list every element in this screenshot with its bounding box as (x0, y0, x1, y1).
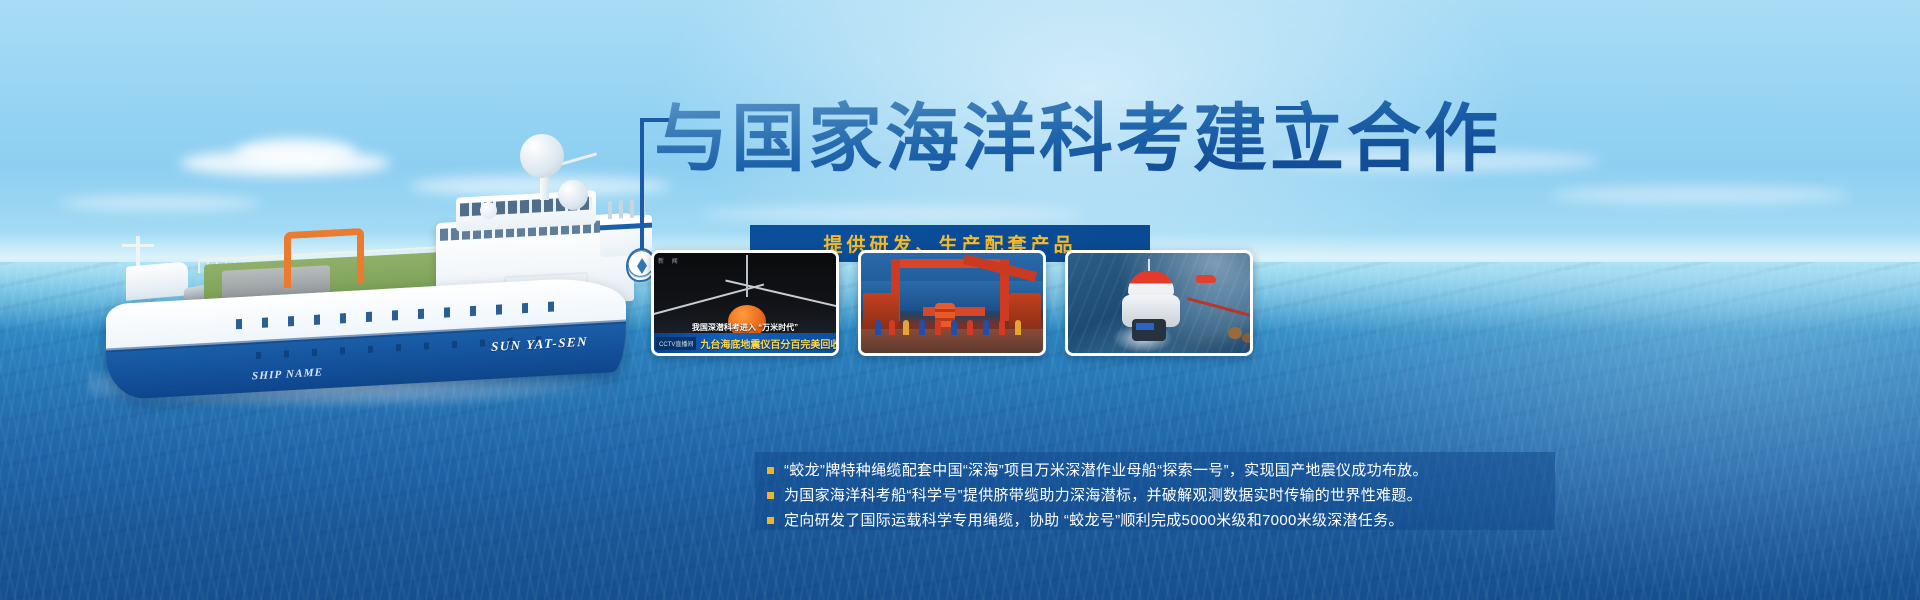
cloud (700, 206, 1080, 222)
thumbnail-1-caption-bottom: 九台海底地震仪百分百完美回收 (700, 336, 839, 351)
page-title: 与国家海洋科考建立合作 (654, 100, 1501, 180)
cloud (1550, 186, 1850, 204)
thumbnail-submersible[interactable] (1065, 250, 1253, 356)
thumbnail-1-corner-tag: 新 闻 (658, 256, 681, 265)
bullet-marker-icon (767, 467, 774, 474)
bullet-text: “蛟龙”牌特种绳缆配套中国“深海”项目万米深潜作业母船“探索一号”，实现国产地震… (784, 458, 1428, 483)
tow-float (1242, 333, 1253, 343)
ship-name-stern: SUN YAT-SEN (491, 334, 588, 355)
thumbnail-1-caption-bar: CCTV直播间 九台海底地震仪百分百完美回收 (654, 333, 836, 353)
bullet-item: 为国家海洋科考船“科学号”提供脐带缆助力深海潜标，并破解观测数据实时传输的世界性… (755, 483, 1555, 508)
thumbnail-news-seismograph[interactable]: 新 闻 我国深潜科考进入 “万米时代” CCTV直播间 九台海底地震仪百分百完美… (651, 250, 839, 356)
crew-member (967, 320, 973, 335)
orange-a-frame (284, 228, 364, 288)
bullet-marker-icon (767, 517, 774, 524)
foremast-crossbar (122, 244, 154, 247)
tv-channel-tag: CCTV直播间 (656, 337, 696, 350)
bullet-item: “蛟龙”牌特种绳缆配套中国“深海”项目万米深潜作业母船“探索一号”，实现国产地震… (755, 458, 1555, 483)
bullet-item: 定向研发了国际运载科学专用绳缆，协助 “蛟龙号”顺利完成5000米级和7000米… (755, 508, 1555, 533)
bullet-text: 定向研发了国际运载科学专用绳缆，协助 “蛟龙号”顺利完成5000米级和7000米… (784, 508, 1404, 533)
crew-member (999, 320, 1005, 335)
thumbnail-1-caption-top: 我国深潜科考进入 “万米时代” (654, 322, 836, 333)
bullet-text: 为国家海洋科考船“科学号”提供脐带缆助力深海潜标，并破解观测数据实时传输的世界性… (784, 483, 1422, 508)
title-block: 与国家海洋科考建立合作 (640, 96, 1300, 206)
crew-member (919, 320, 925, 335)
radome-small (480, 202, 497, 219)
submersible-panel (1136, 323, 1154, 330)
crew-member (935, 320, 941, 335)
crew-member (983, 320, 989, 335)
research-vessel-illustration: SUN YAT-SEN SHIP NAME (88, 140, 648, 420)
ship-name-bow: SHIP NAME (252, 366, 323, 382)
crew-member (1015, 320, 1021, 335)
hero-banner: SUN YAT-SEN SHIP NAME 与国家海洋科考建立合作 提供研发、生… (0, 0, 1920, 600)
crew-member (875, 320, 881, 335)
tow-float (1228, 327, 1242, 339)
crew-row (867, 319, 1043, 335)
radome-medium (558, 180, 588, 210)
support-boat-icon (1196, 275, 1216, 283)
radome-large (520, 134, 564, 178)
lifting-wire (746, 255, 748, 297)
bullet-marker-icon (767, 492, 774, 499)
bow-structure (126, 261, 188, 300)
feature-bullet-panel: “蛟龙”牌特种绳缆配套中国“深海”项目万米深潜作业母船“探索一号”，实现国产地震… (755, 452, 1555, 530)
crew-member (903, 320, 909, 335)
thumbnail-gallery: 新 闻 我国深潜科考进入 “万米时代” CCTV直播间 九台海底地震仪百分百完美… (651, 250, 1311, 358)
crew-member (951, 320, 957, 335)
crew-member (889, 320, 895, 335)
thumbnail-crane-deployment[interactable] (858, 250, 1046, 356)
